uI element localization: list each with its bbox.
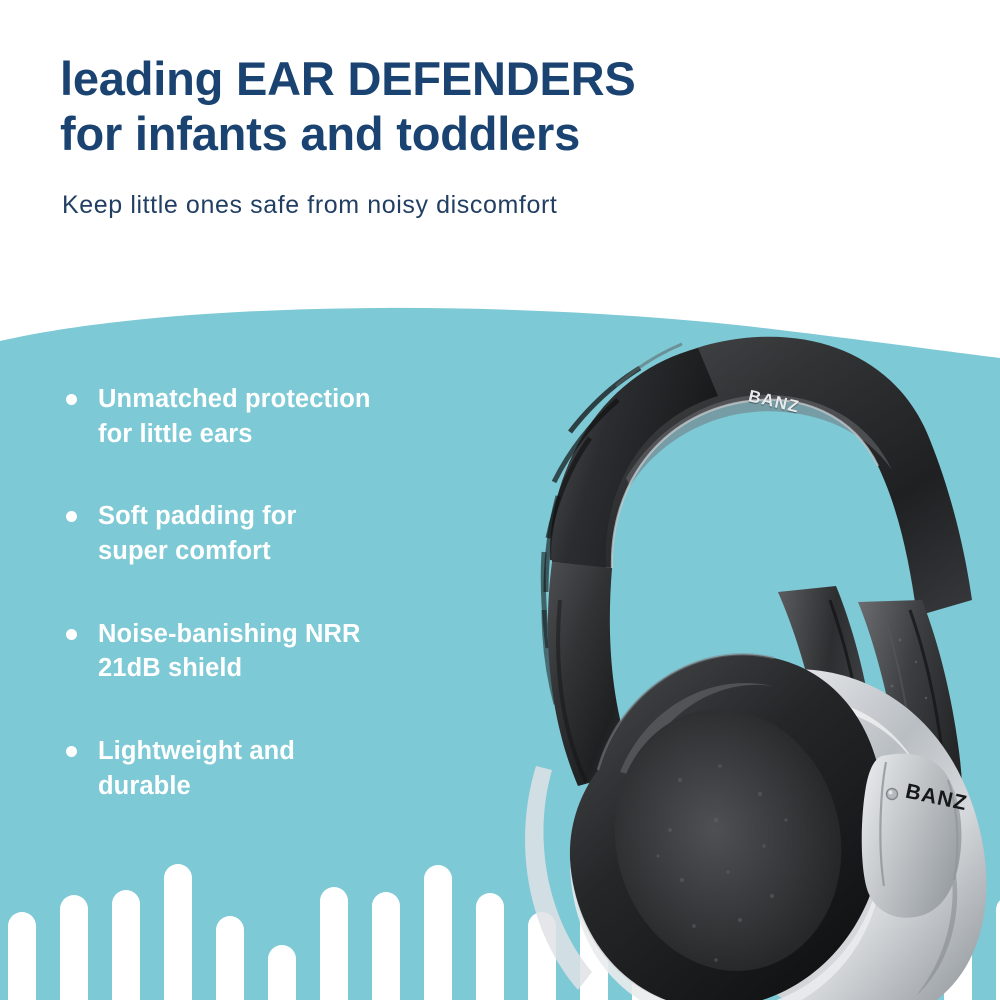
bullet-line-1: Unmatched protection [98, 385, 371, 413]
bullet-line-2: for little ears [98, 420, 253, 448]
bullet-dot-icon [66, 629, 77, 640]
bullet-line-1: Noise-banishing NRR [98, 620, 361, 648]
headline-line-2: for infants and toddlers [60, 107, 820, 162]
list-item: Soft padding for super comfort [62, 499, 482, 568]
product-image-ear-defenders [430, 300, 1000, 1000]
page-title: leading EAR DEFENDERS for infants and to… [60, 52, 820, 162]
header-block: leading EAR DEFENDERS for infants and to… [60, 52, 820, 223]
hinge-bracket [862, 754, 962, 918]
bullet-line-1: Soft padding for [98, 502, 296, 530]
list-item: Unmatched protection for little ears [62, 382, 482, 451]
bullet-dot-icon [66, 746, 77, 757]
bullet-line-2: 21dB shield [98, 654, 242, 682]
bullet-line-1: Lightweight and [98, 737, 295, 765]
bullet-line-2: durable [98, 772, 191, 800]
bullet-dot-icon [66, 394, 77, 405]
list-item: Noise-banishing NRR 21dB shield [62, 617, 482, 686]
feature-bullet-list: Unmatched protection for little ears Sof… [62, 382, 482, 803]
bullet-dot-icon [66, 511, 77, 522]
page-subtitle: Keep little ones safe from noisy discomf… [62, 188, 582, 224]
headline-line-1: leading EAR DEFENDERS [60, 52, 636, 105]
product-banner: leading EAR DEFENDERS for infants and to… [0, 0, 1000, 1000]
list-item: Lightweight and durable [62, 734, 482, 803]
hinge-screw [887, 789, 898, 800]
bullet-line-2: super comfort [98, 537, 271, 565]
